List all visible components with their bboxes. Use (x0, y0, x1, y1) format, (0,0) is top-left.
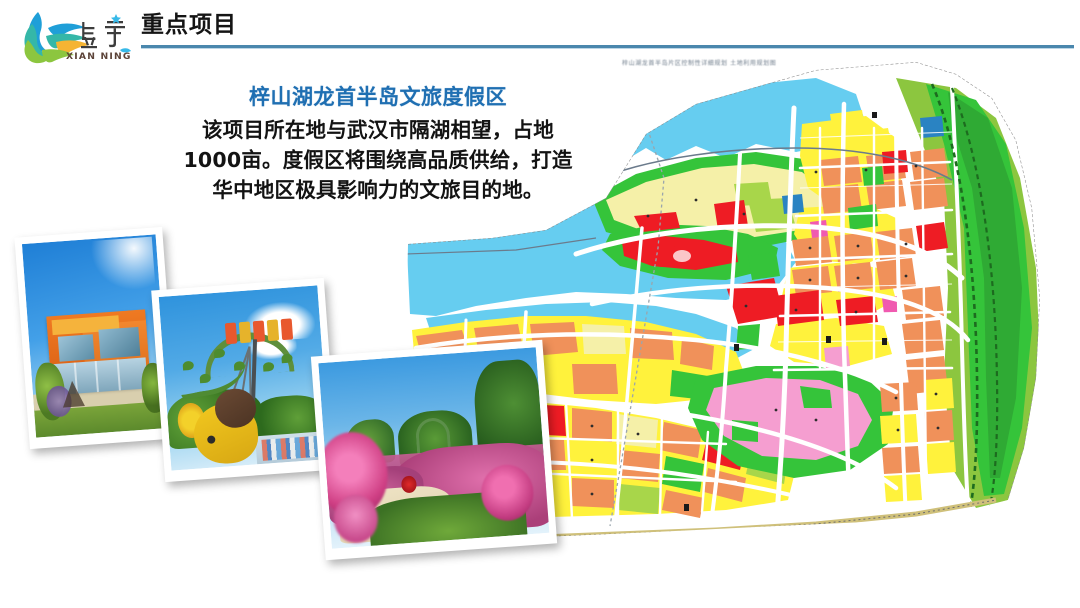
photo-container-hotel[interactable] (14, 227, 177, 449)
description-line-3: 华中地区极具影响力的文旅目的地。 (128, 175, 628, 205)
window-upper-left (58, 334, 95, 362)
garden-trellis (62, 380, 86, 408)
photo-rose-garden-image (318, 347, 549, 548)
photo-amusement-ride[interactable] (151, 278, 338, 482)
description-line-2: 1000亩。度假区将围绕高品质供给，打造 (128, 145, 628, 175)
vine-leaf (234, 361, 246, 371)
vine-leaf (214, 348, 226, 358)
svg-text:XIAN NING: XIAN NING (66, 51, 132, 62)
project-description: 该项目所在地与武汉市隔湖相望，占地 1000亩。度假区将围绕高品质供给，打造 华… (128, 115, 628, 205)
photo-amusement-ride-image (159, 285, 330, 470)
visitors-crowd (262, 435, 324, 460)
photo-rose-garden[interactable] (311, 340, 557, 560)
photo-container-hotel-image (22, 234, 170, 437)
page-title: 重点项目 (141, 8, 1076, 42)
xianning-city-logo: XIAN NING (12, 6, 134, 68)
project-name-heading: 梓山湖龙首半岛文旅度假区 (128, 83, 628, 112)
map-title-text: 梓山湖龙首半岛片区控制性详细规划 土地利用规划图 (622, 58, 776, 67)
window-upper-right (98, 327, 140, 359)
project-text-block: 梓山湖龙首半岛文旅度假区 该项目所在地与武汉市隔湖相望，占地 1000亩。度假区… (128, 83, 628, 205)
sun-glow (90, 237, 156, 293)
description-line-1: 该项目所在地与武汉市隔湖相望，占地 (128, 115, 628, 145)
slide-root: XIAN NING 重点项目 梓山湖龙首半岛文旅度假区 该项目所在地与武汉市隔湖… (0, 0, 1080, 608)
